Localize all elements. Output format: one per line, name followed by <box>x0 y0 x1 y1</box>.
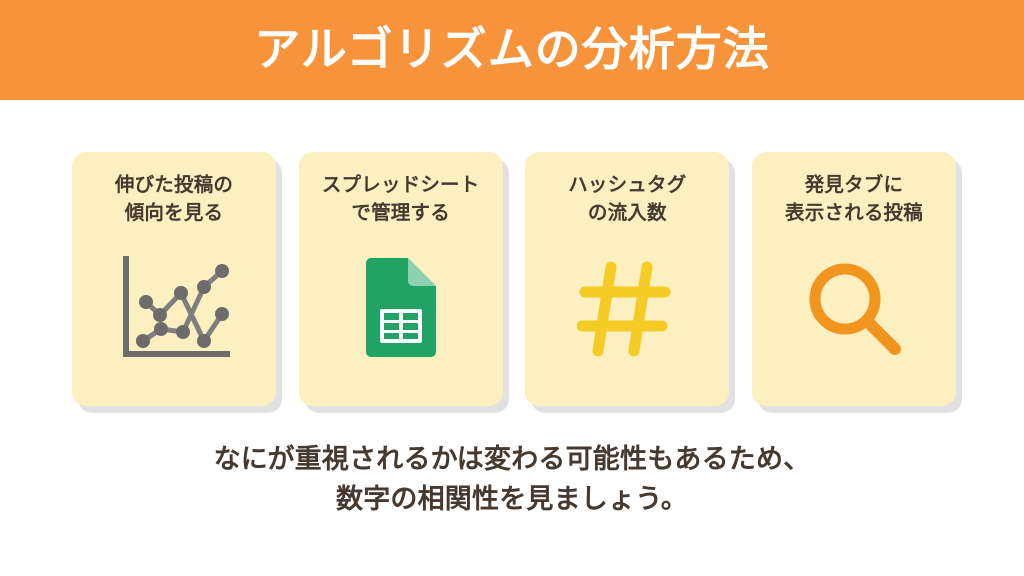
page-title: アルゴリズムの分析方法 <box>254 26 770 72</box>
card-icon-wrap <box>758 227 950 396</box>
card-spreadsheet-management[interactable]: スプレッドシート で管理する <box>299 152 503 406</box>
card-icon-wrap <box>531 227 723 396</box>
card-trend-analysis[interactable]: 伸びた投稿の 傾向を見る <box>72 152 276 406</box>
magnifier-icon <box>804 259 904 359</box>
card-row: 伸びた投稿の 傾向を見る <box>72 152 956 406</box>
title-banner: アルゴリズムの分析方法 <box>0 0 1024 100</box>
card-explore-tab-posts[interactable]: 発見タブに 表示される投稿 <box>752 152 956 406</box>
google-sheets-icon <box>363 257 439 361</box>
card-hashtag-traffic[interactable]: ハッシュタグ の流入数 <box>525 152 729 406</box>
footer-message: なにが重視されるかは変わる可能性もあるため、 数字の相関性を見ましょう。 <box>0 440 1024 520</box>
card-title: 伸びた投稿の 傾向を見る <box>115 172 233 227</box>
card-icon-wrap <box>305 227 497 396</box>
card-title: 発見タブに 表示される投稿 <box>785 172 923 227</box>
footer: なにが重視されるかは変わる可能性もあるため、 数字の相関性を見ましょう。 <box>0 440 1024 520</box>
card-title: スプレッドシート で管理する <box>322 172 480 227</box>
line-chart-icon <box>116 253 232 365</box>
card-title: ハッシュタグ の流入数 <box>568 172 686 227</box>
hashtag-icon <box>577 259 677 359</box>
card-icon-wrap <box>78 227 270 396</box>
